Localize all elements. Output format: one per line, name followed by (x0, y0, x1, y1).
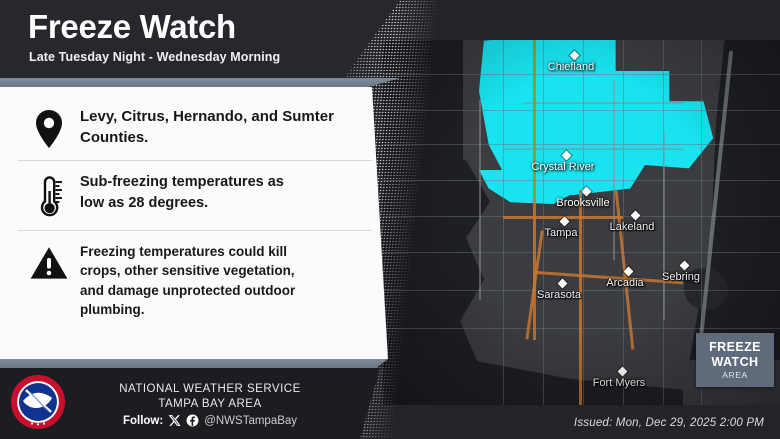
legend-line1: FREEZE (700, 340, 770, 354)
page-title: Freeze Watch (28, 8, 236, 46)
city-label: Tampa (544, 227, 577, 239)
header-subtitle: Late Tuesday Night - Wednesday Morning (29, 50, 280, 64)
agency-line-1: NATIONAL WEATHER SERVICE (66, 382, 354, 397)
footer-content: NATIONAL WEATHER SERVICE TAMPA BAY AREA … (0, 374, 372, 435)
info-line: crops, other sensitive vegetation, (80, 261, 295, 280)
agency-line-2: TAMPA BAY AREA (66, 397, 354, 412)
issued-timestamp: Issued: Mon, Dec 29, 2025 2:00 PM (574, 417, 764, 429)
info-rows: Levy, Citrus, Hernando, and Sumter Count… (0, 95, 372, 331)
city-label: Fort Myers (593, 377, 646, 389)
info-line: Levy, Citrus, Hernando, and Sumter (80, 106, 334, 127)
info-panel: Freeze Watch Late Tuesday Night - Wednes… (0, 0, 400, 439)
follow-label: Follow: (123, 415, 163, 427)
info-line: and damage unprotected outdoor (80, 281, 295, 300)
city-label: Lakeland (610, 221, 655, 233)
info-row-impacts: Freezing temperatures could kill crops, … (18, 230, 372, 331)
weather-map[interactable]: Chiefland Crystal River Brooksville Tamp… (383, 40, 780, 405)
info-row-text: Sub-freezing temperatures as low as 28 d… (80, 172, 298, 213)
info-line: Freezing temperatures could kill (80, 242, 295, 261)
social-handle[interactable]: @NWSTampaBay (204, 415, 297, 427)
info-row-temperature: Sub-freezing temperatures as low as 28 d… (18, 160, 372, 230)
info-line: low as 28 degrees. (80, 193, 284, 214)
accent-bar-top (0, 78, 400, 87)
city-label: Brooksville (556, 197, 609, 209)
info-line: Sub-freezing temperatures as (80, 172, 284, 193)
city-label: Sebring (662, 271, 700, 283)
legend-freeze-watch-area: FREEZE WATCH AREA (696, 333, 774, 387)
info-line: Counties. (80, 127, 334, 148)
freeze-watch-graphic: Chiefland Crystal River Brooksville Tamp… (0, 0, 780, 439)
legend-line2: WATCH (700, 355, 770, 369)
agency-text: NATIONAL WEATHER SERVICE TAMPA BAY AREA … (66, 382, 372, 427)
city-label: Arcadia (606, 277, 643, 289)
info-row-counties: Levy, Citrus, Hernando, and Sumter Count… (18, 95, 372, 160)
follow-row: Follow: @NWSTampaBay (66, 414, 354, 427)
city-label: Sarasota (537, 289, 581, 301)
accent-bar-bottom (0, 359, 400, 368)
info-line: plumbing. (80, 300, 295, 319)
legend-line3: AREA (700, 370, 770, 380)
info-row-text: Freezing temperatures could kill crops, … (80, 242, 309, 320)
location-pin-icon (18, 106, 80, 149)
info-row-text: Levy, Citrus, Hernando, and Sumter Count… (80, 106, 348, 149)
x-twitter-icon[interactable] (168, 414, 181, 427)
city-label: Chiefland (548, 61, 594, 73)
warning-triangle-icon (18, 242, 80, 281)
nws-seal-icon (10, 374, 66, 435)
thermometer-icon (18, 172, 80, 219)
facebook-icon[interactable] (186, 414, 199, 427)
city-label: Crystal River (532, 161, 595, 173)
